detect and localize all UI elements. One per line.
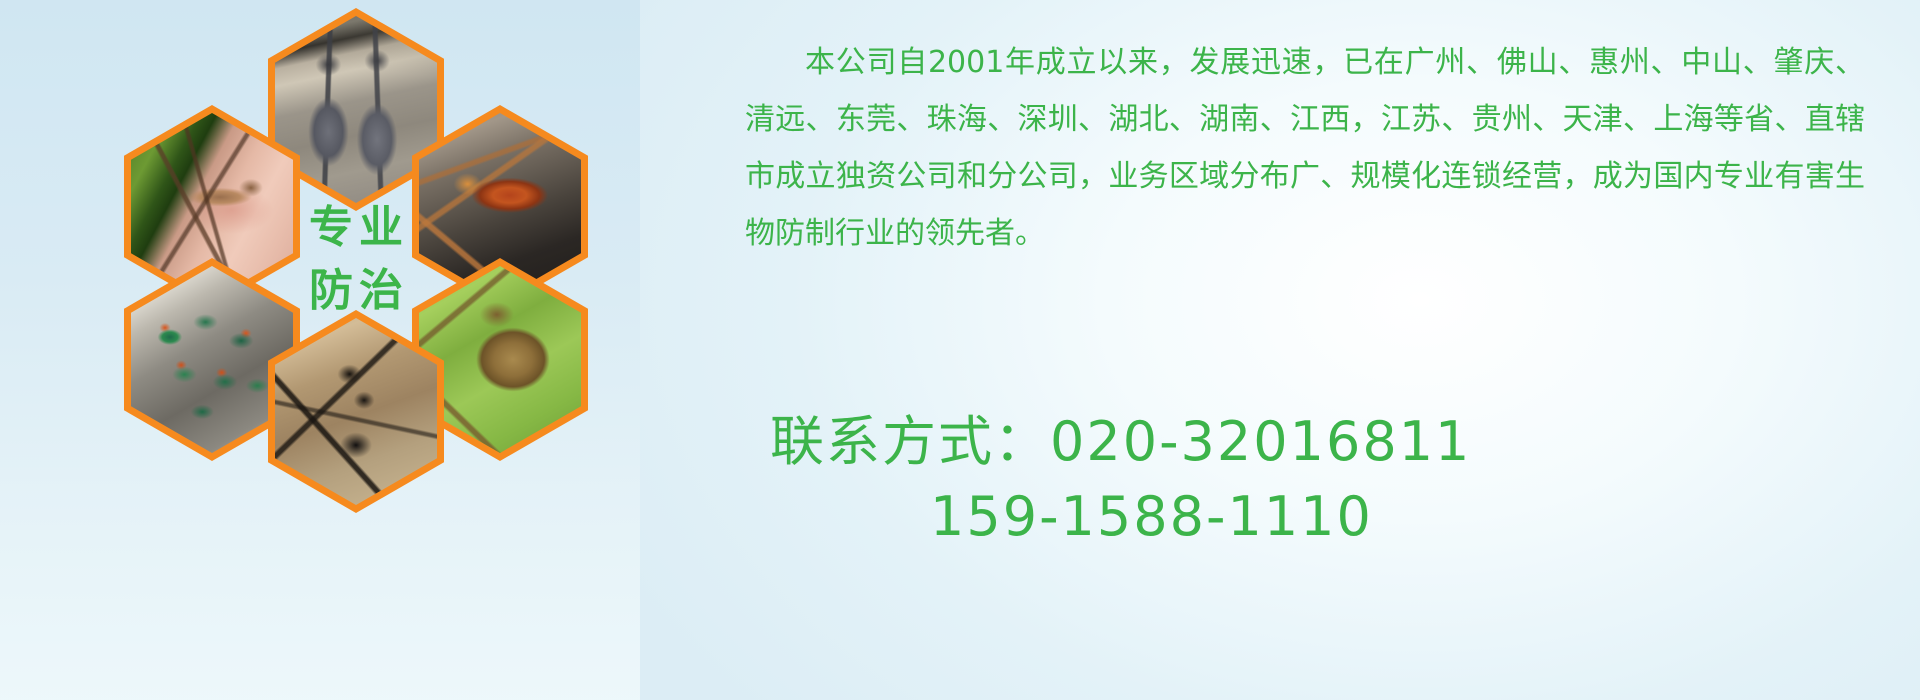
slogan-line-1: 专业 [303,197,409,259]
contact-line-secondary[interactable]: 159-1588-1110 [770,479,1820,554]
slogan-line-2: 防治 [303,260,409,322]
contact-line-primary[interactable]: 联系方式：020-32016811 [770,404,1820,479]
company-intro-paragraph: 本公司自2001年成立以来，发展迅速，已在广州、佛山、惠州、中山、肇庆、清远、东… [745,34,1865,262]
hex-center-slogan: 专业 防治 [268,158,444,361]
contact-block: 联系方式：020-32016811 159-1588-1110 [770,404,1820,554]
company-intro-block: 本公司自2001年成立以来，发展迅速，已在广州、佛山、惠州、中山、肇庆、清远、东… [745,34,1865,262]
promo-banner: 专业 防治 本公司自2001年成立以来，发展迅速，已在广州、佛山、惠州、中山、肇… [0,0,1920,700]
hexagon-photo-cluster: 专业 防治 [96,0,616,570]
